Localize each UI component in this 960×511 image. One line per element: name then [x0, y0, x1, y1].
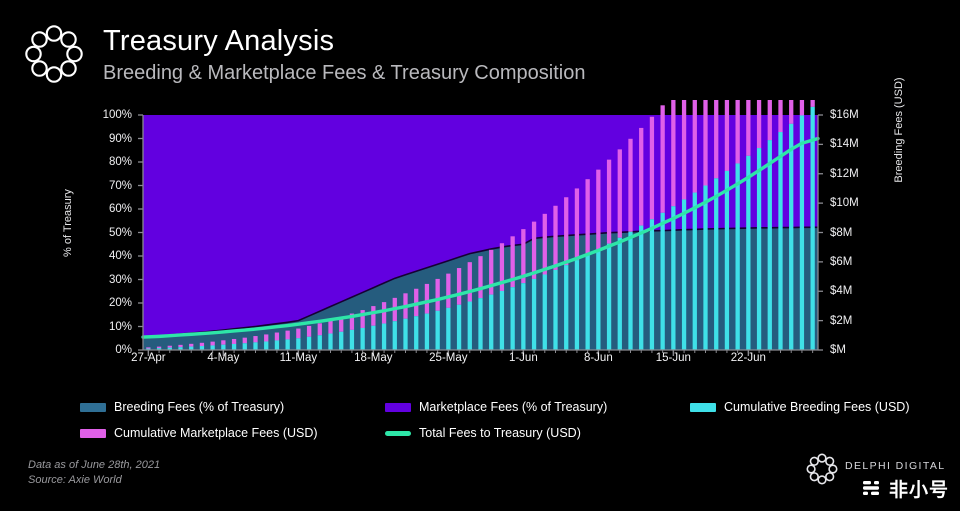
y-axis-left-tick: 20%: [84, 297, 132, 309]
x-axis-tick: 8-Jun: [584, 352, 613, 364]
x-axis-tick: 15-Jun: [656, 352, 691, 364]
page-header: Treasury Analysis Breeding & Marketplace…: [0, 0, 960, 105]
legend-label: Total Fees to Treasury (USD): [419, 426, 581, 440]
y-axis-right-tick: $6M: [830, 256, 882, 268]
x-axis-tick: 25-May: [429, 352, 467, 364]
y-axis-left-tick: 70%: [84, 180, 132, 192]
delphi-flower-logo-icon: [805, 452, 839, 486]
chart-page: Treasury Analysis Breeding & Marketplace…: [0, 0, 960, 511]
y-axis-left-tick: 10%: [84, 321, 132, 333]
legend-swatch-icon: [385, 403, 411, 412]
page-subtitle: Breeding & Marketplace Fees & Treasury C…: [103, 62, 585, 85]
chart-legend: Breeding Fees (% of Treasury)Marketplace…: [80, 400, 940, 448]
y-axis-title-left: % of Treasury: [62, 158, 74, 288]
legend-item[interactable]: Breeding Fees (% of Treasury): [80, 400, 284, 414]
y-axis-left-tick: 80%: [84, 156, 132, 168]
legend-item[interactable]: Cumulative Breeding Fees (USD): [690, 400, 910, 414]
y-axis-right-tick: $12M: [830, 168, 882, 180]
y-axis-left-tick: 90%: [84, 133, 132, 145]
y-axis-title-right: Breeding Fees (USD): [893, 40, 905, 220]
y-axis-right-tick: $14M: [830, 138, 882, 150]
y-axis-left-tick: 100%: [84, 109, 132, 121]
y-axis-right-ticks: $M$2M$4M$6M$8M$10M$12M$14M$16M: [830, 100, 890, 395]
delphi-flower-logo-icon: [22, 22, 86, 86]
y-axis-right-tick: $2M: [830, 315, 882, 327]
legend-label: Cumulative Marketplace Fees (USD): [114, 426, 318, 440]
legend-label: Breeding Fees (% of Treasury): [114, 400, 284, 414]
y-axis-right-tick: $8M: [830, 227, 882, 239]
footnote-source: Source: Axie World: [28, 473, 160, 488]
legend-item[interactable]: Cumulative Marketplace Fees (USD): [80, 426, 318, 440]
y-axis-right-tick: $16M: [830, 109, 882, 121]
feixiaohao-icon: [862, 478, 884, 503]
footnote: Data as of June 28th, 2021 Source: Axie …: [28, 458, 160, 488]
y-axis-left-tick: 30%: [84, 274, 132, 286]
x-axis-tick: 1-Jun: [509, 352, 538, 364]
legend-swatch-icon: [80, 429, 106, 438]
y-axis-left-tick: 40%: [84, 250, 132, 262]
y-axis-right-tick: $10M: [830, 197, 882, 209]
x-axis-ticks: 27-Apr4-May11-May18-May25-May1-Jun8-Jun1…: [0, 352, 960, 374]
legend-item[interactable]: Total Fees to Treasury (USD): [385, 426, 581, 440]
legend-item[interactable]: Marketplace Fees (% of Treasury): [385, 400, 607, 414]
chart-canvas: [0, 100, 960, 395]
x-axis-tick: 22-Jun: [731, 352, 766, 364]
x-axis-tick: 11-May: [280, 352, 318, 364]
legend-label: Marketplace Fees (% of Treasury): [419, 400, 607, 414]
page-title: Treasury Analysis: [103, 25, 334, 58]
y-axis-left-tick: 50%: [84, 227, 132, 239]
brand-name: DELPHI DIGITAL: [845, 460, 946, 472]
footnote-data-as-of: Data as of June 28th, 2021: [28, 458, 160, 473]
watermark: 非小号: [862, 478, 949, 503]
legend-label: Cumulative Breeding Fees (USD): [724, 400, 910, 414]
legend-swatch-icon: [385, 431, 411, 436]
chart-plot-area: % of Treasury Breeding Fees (USD) 0%10%2…: [0, 100, 960, 395]
x-axis-tick: 18-May: [354, 352, 392, 364]
x-axis-tick: 27-Apr: [131, 352, 166, 364]
legend-swatch-icon: [80, 403, 106, 412]
y-axis-left-ticks: 0%10%20%30%40%50%60%70%80%90%100%: [80, 100, 132, 395]
y-axis-left-tick: 60%: [84, 203, 132, 215]
legend-swatch-icon: [690, 403, 716, 412]
x-axis-tick: 4-May: [207, 352, 239, 364]
y-axis-right-tick: $4M: [830, 285, 882, 297]
watermark-text: 非小号: [889, 481, 949, 500]
